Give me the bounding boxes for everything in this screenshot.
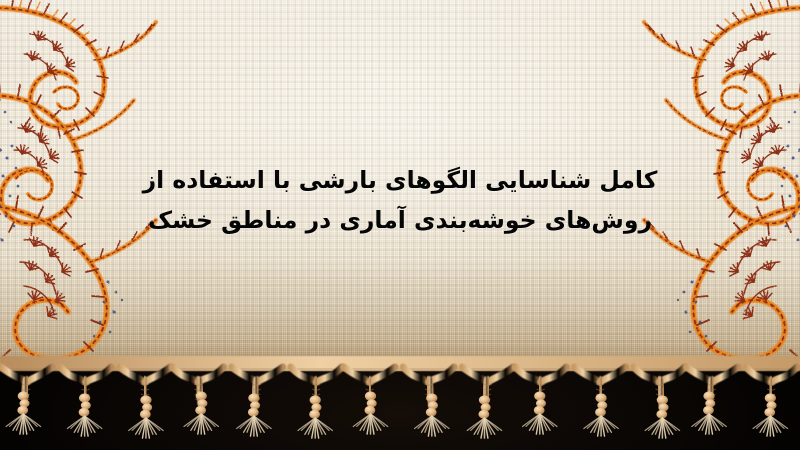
title-line-1: کامل شناسایی الگوهای بارشی با استفاده از (0, 160, 800, 200)
fabric-hem-edge (0, 363, 800, 370)
textile-title-card: کامل شناسایی الگوهای بارشی با استفاده از… (0, 0, 800, 450)
page-title: کامل شناسایی الگوهای بارشی با استفاده از… (0, 160, 800, 240)
title-line-2: روش‌های خوشه‌بندی آماری در مناطق خشک (0, 200, 800, 240)
